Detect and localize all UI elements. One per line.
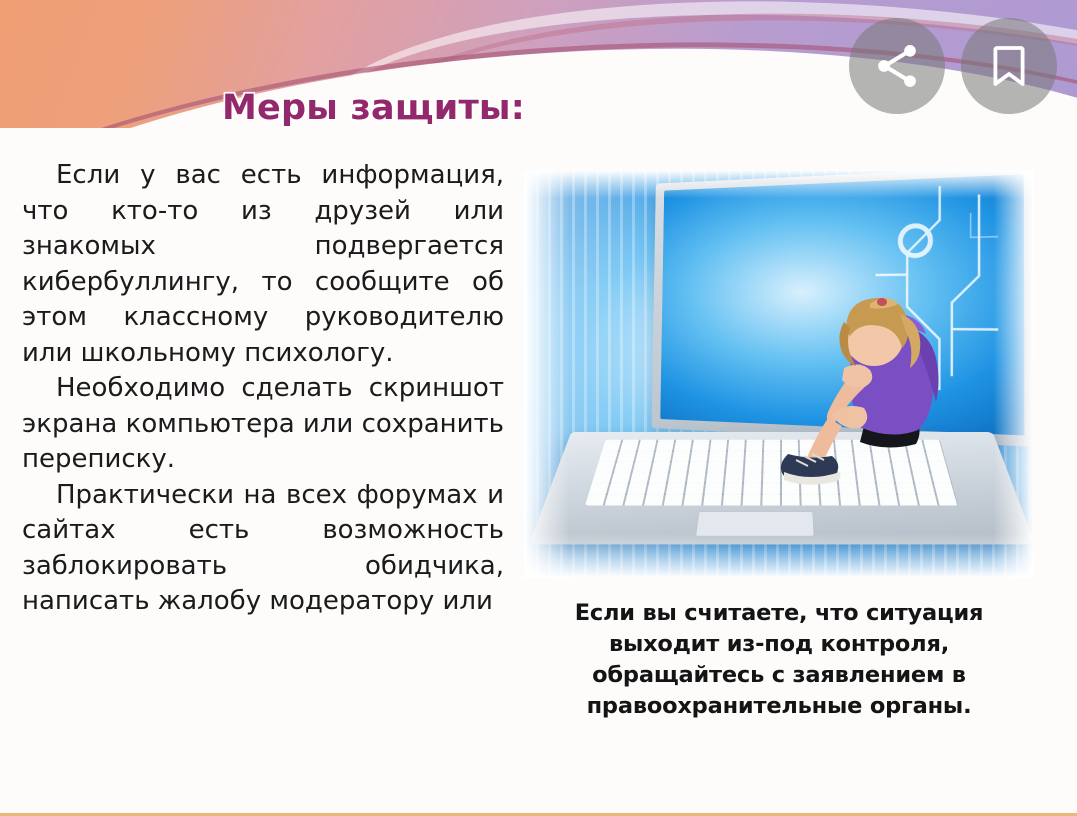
bookmark-icon <box>985 42 1033 90</box>
photo-white-vignette <box>524 170 1034 578</box>
slide-page: Меры защиты: Если у вас есть информация,… <box>0 0 1077 816</box>
paragraph-1: Если у вас есть информация, что кто-то и… <box>22 158 504 371</box>
bookmark-button[interactable] <box>961 18 1057 114</box>
paragraph-3: Практически на всех форумах и сайтах ест… <box>22 478 504 620</box>
body-text-column: Если у вас есть информация, что кто-то и… <box>22 158 504 620</box>
share-button[interactable] <box>849 18 945 114</box>
share-icon <box>871 40 923 92</box>
paragraph-2: Необходимо сделать скриншот экрана компь… <box>22 371 504 478</box>
illustration-photo <box>524 170 1034 578</box>
floating-action-buttons <box>849 18 1057 114</box>
photo-caption: Если вы считаете, что ситуация выходит и… <box>522 598 1036 722</box>
